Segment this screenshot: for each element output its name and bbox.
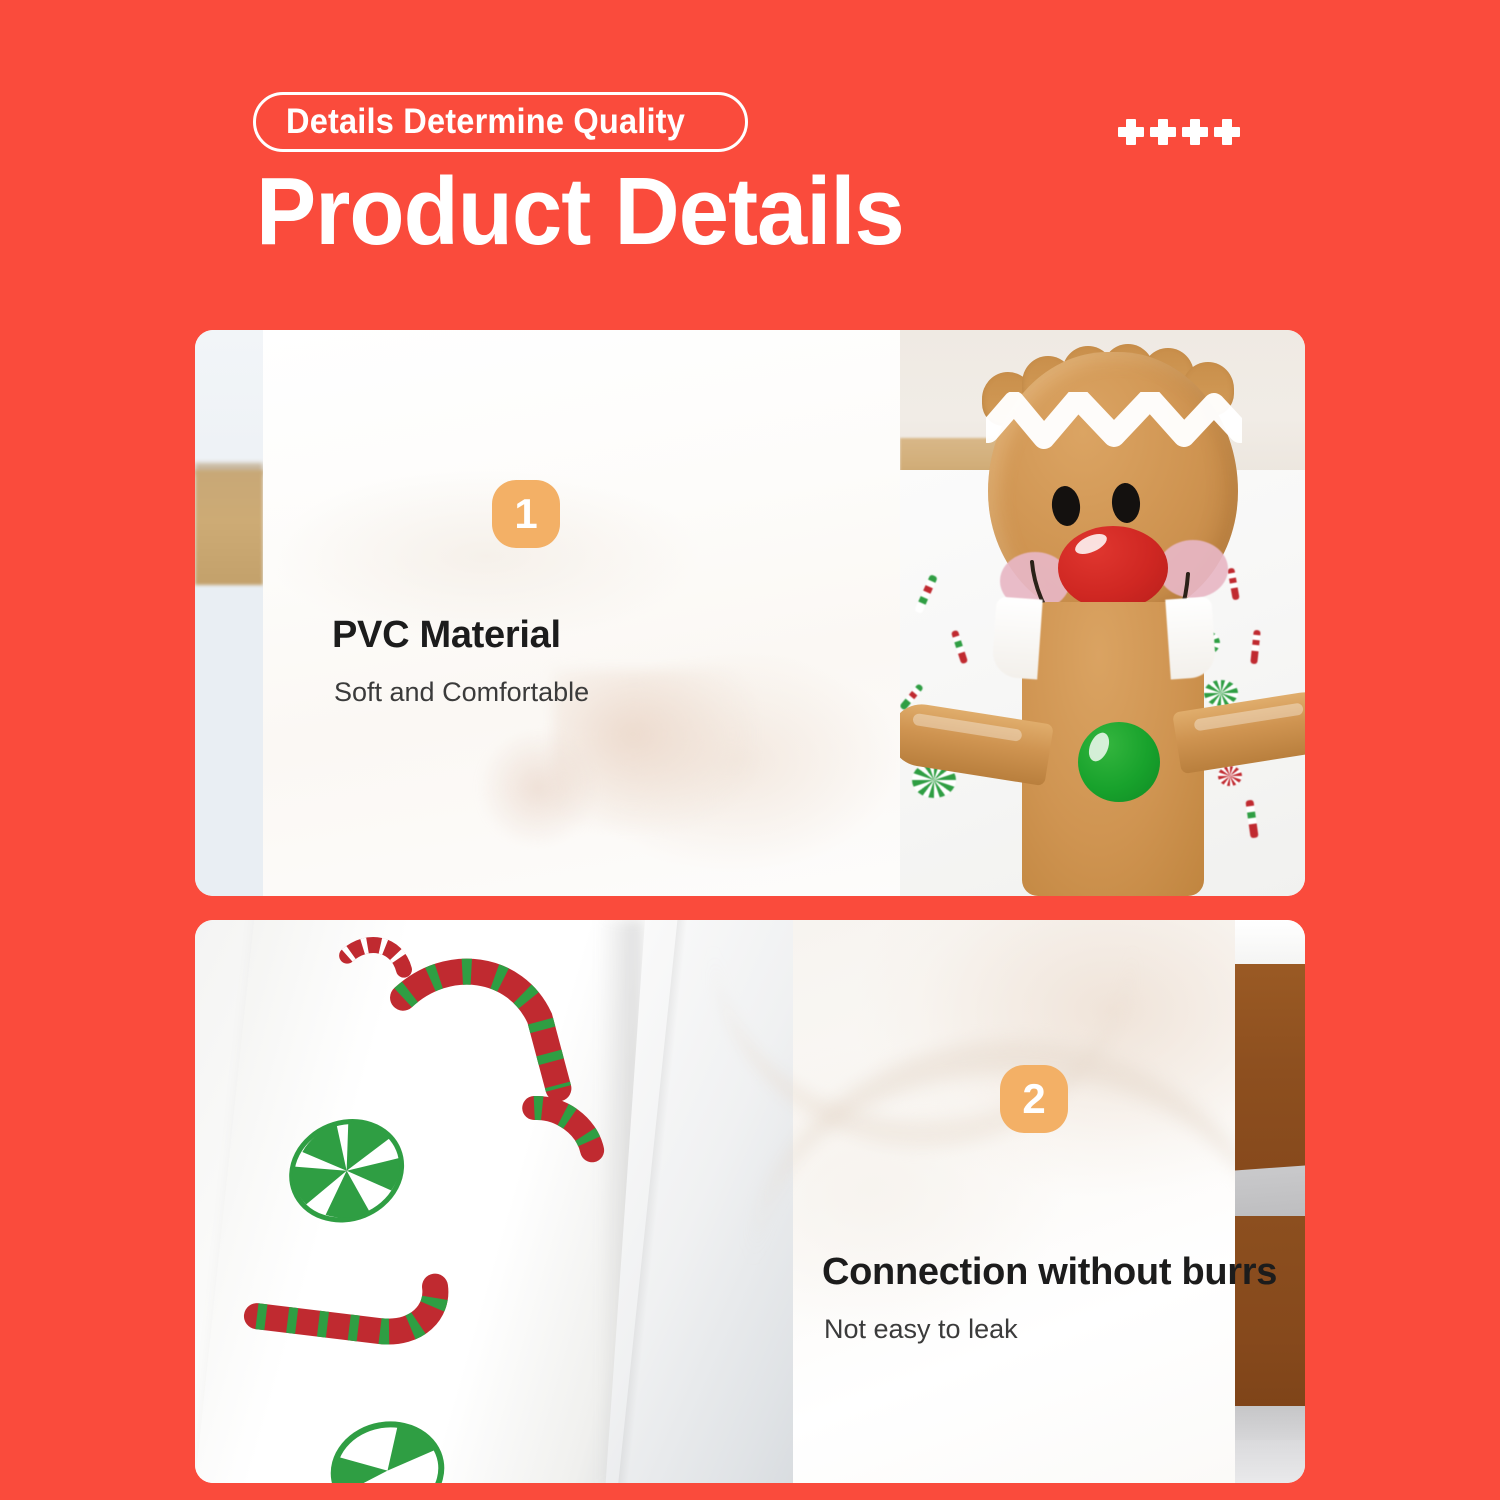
eyebrow-label: Details Determine Quality <box>286 102 685 142</box>
feature-card-2: 2 Connection without burrs Not easy to l… <box>195 920 1305 1483</box>
card-2-title: Connection without burrs <box>822 1251 1282 1294</box>
plus-icon <box>1214 108 1240 156</box>
strip-band-light <box>1235 1440 1305 1483</box>
step-number-badge-2: 2 <box>1000 1065 1068 1133</box>
plus-icon <box>1118 108 1144 156</box>
strip-band-white <box>1235 920 1305 970</box>
card-1-title: PVC Material <box>332 614 802 657</box>
page-title: Product Details <box>256 164 904 260</box>
plus-decoration-group <box>1118 108 1240 156</box>
plus-icon <box>1182 108 1208 156</box>
soft-bokeh-blob <box>478 728 598 848</box>
card-2-subtitle: Not easy to leak <box>824 1314 1282 1345</box>
card-1-subtitle: Soft and Comfortable <box>334 677 802 708</box>
white-collar-left <box>991 596 1042 679</box>
gingerbread-inflatable-figure <box>930 340 1275 896</box>
feature-card-1: 1 PVC Material Soft and Comfortable <box>195 330 1305 896</box>
card-1-text-block: 1 PVC Material Soft and Comfortable <box>332 480 802 708</box>
white-icing-zigzag <box>986 392 1242 464</box>
white-collar-right <box>1165 596 1216 679</box>
card-1-product-photo <box>900 330 1305 896</box>
plus-icon <box>1150 108 1176 156</box>
eyebrow-pill: Details Determine Quality <box>253 92 748 152</box>
candy-print-overlay <box>195 920 793 1483</box>
card-2-product-photo <box>195 920 793 1483</box>
header-section: Details Determine Quality Product Detail… <box>0 0 1500 300</box>
card-1-photo-edge-strip <box>195 330 263 896</box>
green-button <box>1078 722 1160 802</box>
card-2-text-block: 2 Connection without burrs Not easy to l… <box>822 1065 1282 1345</box>
wood-floor-band <box>195 470 263 585</box>
step-number-badge-1: 1 <box>492 480 560 548</box>
